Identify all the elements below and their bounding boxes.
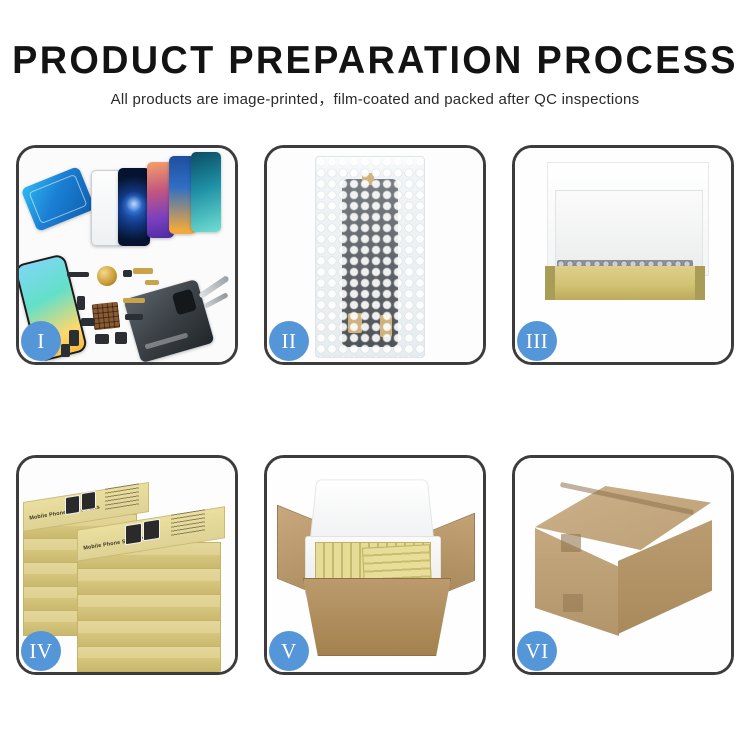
box-side [78, 607, 220, 621]
page-subtitle: All products are image-printed，film-coat… [0, 82, 750, 109]
step-badge-6: VI [517, 631, 557, 671]
box-label-phone-image [125, 523, 142, 546]
step-badge-2: II [269, 321, 309, 361]
carton-body [303, 578, 451, 656]
kraft-box-base [545, 266, 705, 300]
step-panel-2[interactable]: II [264, 145, 486, 365]
page-title: PRODUCT PREPARATION PROCESS [11, 0, 739, 82]
bag-fold-highlight [316, 157, 424, 173]
page-header: PRODUCT PREPARATION PROCESS All products… [0, 0, 750, 109]
bubble-wrap-bag [315, 156, 425, 358]
step-badge-5: V [269, 631, 309, 671]
step-panel-4[interactable]: Mobile Phone Spare Parts Mobile Phone Sp… [16, 455, 238, 675]
stacked-box [77, 620, 221, 648]
flex-cable-part [133, 268, 153, 274]
step-badge-4: IV [21, 631, 61, 671]
box-side [78, 658, 220, 671]
bubble-texture [316, 157, 424, 357]
box-base-right-edge [695, 266, 705, 300]
carton-tape-patch [563, 594, 583, 612]
step-panel-1[interactable]: I [16, 145, 238, 365]
flex-cable-part [123, 298, 145, 303]
step-panel-6[interactable]: VI [512, 455, 734, 675]
small-part [125, 314, 143, 320]
small-part [123, 270, 132, 277]
small-part [95, 334, 109, 344]
process-steps-grid: I II [16, 145, 734, 675]
step-badge-3: III [517, 321, 557, 361]
flex-cable-part [145, 280, 159, 285]
step-panel-3[interactable]: III [512, 145, 734, 365]
small-part [81, 318, 95, 326]
foam-lid [309, 479, 434, 544]
small-part [67, 272, 89, 277]
box-side [78, 633, 220, 647]
dark-display-phone [118, 168, 150, 246]
box-label-phone-image [143, 519, 160, 542]
box-side [78, 581, 220, 595]
step-panel-5[interactable]: V [264, 455, 486, 675]
foam-sheet [555, 190, 703, 268]
small-part [69, 330, 79, 346]
logic-board-chip [92, 302, 121, 331]
step-badge-1: I [21, 321, 61, 361]
small-part [115, 332, 127, 344]
stacked-box [77, 594, 221, 622]
teal-gradient-phone [191, 152, 221, 232]
stacked-box [77, 568, 221, 596]
speaker-coin-part [97, 266, 117, 286]
stacked-box [77, 646, 221, 672]
box-label-phone-image [81, 491, 96, 511]
camera-module-icon [172, 289, 197, 316]
small-part [61, 344, 70, 357]
housing-strip [145, 333, 189, 350]
small-part [77, 296, 85, 310]
box-base-left-edge [545, 266, 555, 300]
carton-tape-patch [561, 534, 581, 552]
box-label-phone-image [65, 495, 80, 515]
